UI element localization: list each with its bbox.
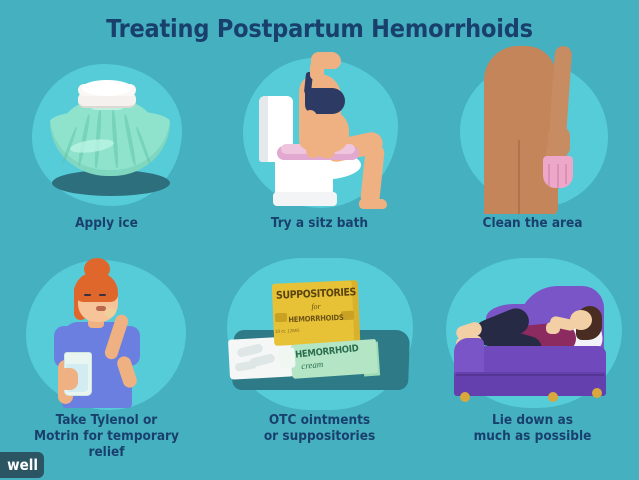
caption-line: Lie down as (426, 412, 639, 428)
cleansing-cloth-icon (426, 52, 639, 212)
ointment-tube-icon: SUPPOSITORIES for HEMORRHOIDS 10 ct. 12M… (213, 252, 426, 412)
panel-caption: Apply ice (0, 215, 213, 231)
panel-caption: Try a sitz bath (213, 215, 426, 231)
couch-leg (548, 392, 558, 402)
ice-cap-top (82, 80, 132, 96)
figure-eye (99, 294, 106, 296)
caption-line: Motrin for temporary (0, 428, 213, 444)
toilet-sitz-bath-icon (213, 52, 426, 212)
panel-apply-ice: Apply ice (0, 52, 213, 242)
figure-leg-crease (518, 140, 520, 214)
couch-leg (592, 388, 602, 398)
figure-hand (546, 322, 560, 334)
figure-foot (359, 199, 387, 209)
cloth-fold (565, 164, 567, 184)
panel-otc-ointments: SUPPOSITORIES for HEMORRHOIDS 10 ct. 12M… (213, 252, 426, 472)
page-title: Treating Postpartum Hemorrhoids (0, 14, 639, 43)
panel-sitz-bath: Try a sitz bath (213, 52, 426, 242)
couch-leg (460, 392, 470, 402)
caption-line: OTC ointments (213, 412, 426, 428)
figure-head (311, 52, 341, 69)
caption-line: or suppositories (213, 428, 426, 444)
toilet-base (273, 192, 337, 206)
ice-pack-icon (0, 52, 213, 212)
woman-on-couch-icon (426, 252, 639, 412)
figure-hair-bun (84, 258, 110, 280)
brand-logo[interactable]: well (0, 452, 44, 478)
panel-pain-relief: Take Tylenol or Motrin for temporary rel… (0, 252, 213, 472)
woman-taking-pill-icon (0, 252, 213, 412)
figure-eye (84, 294, 91, 296)
toilet-tank-shadow (259, 96, 268, 162)
panel-caption: Lie down as much as possible (426, 412, 639, 444)
caption-line: Take Tylenol or (0, 412, 213, 428)
cloth-fold (557, 164, 559, 188)
cloth-fold (548, 164, 550, 186)
infographic-root: Treating Postpartum Hemorrhoids (0, 0, 639, 480)
panel-clean-area: Clean the area (426, 52, 639, 242)
panel-grid: Apply ice (0, 52, 639, 472)
tube-cap (278, 347, 295, 368)
caption-line: much as possible (426, 428, 639, 444)
couch-seam (456, 374, 604, 376)
figure-hand (58, 368, 78, 390)
panel-caption: OTC ointments or suppositories (213, 412, 426, 444)
panel-caption: Clean the area (426, 215, 639, 231)
panel-lie-down: Lie down as much as possible (426, 252, 639, 472)
figure-leg-left (486, 144, 520, 214)
